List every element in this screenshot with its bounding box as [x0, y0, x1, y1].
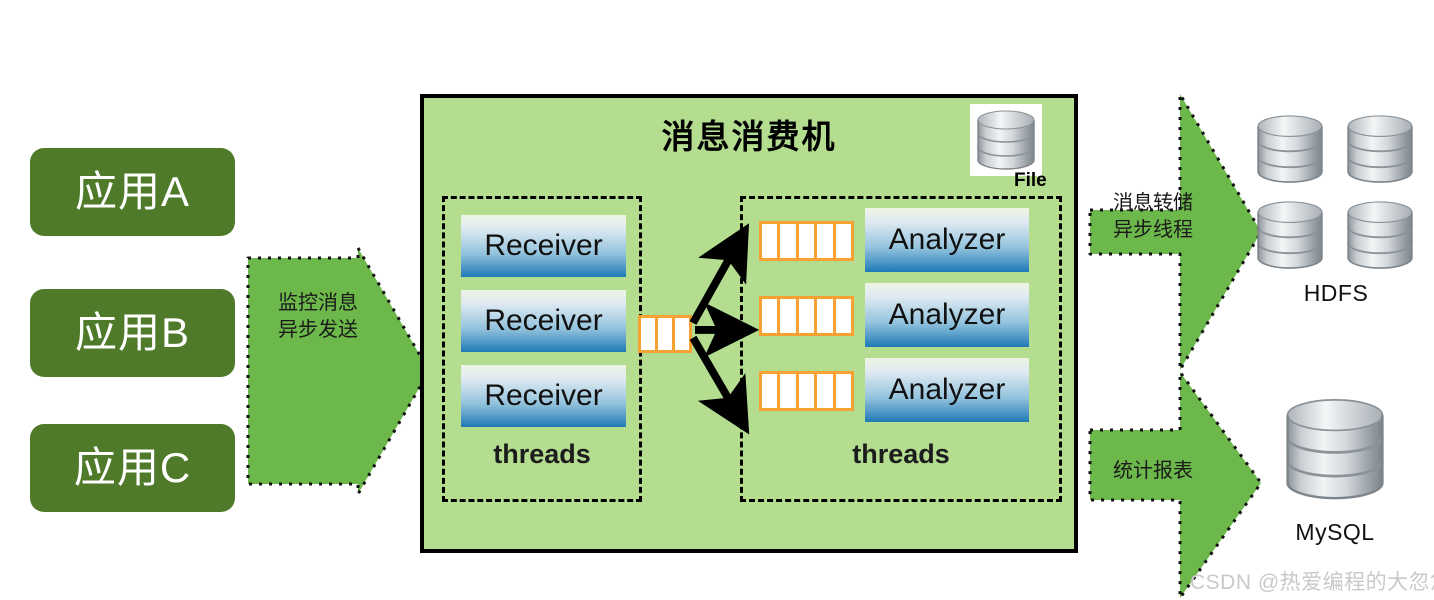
database-cylinder-icon: [1248, 108, 1332, 190]
analyzer-threads-label: threads: [743, 439, 1059, 470]
ingest-flow-arrow: [246, 246, 431, 496]
source-app-c-label: 应用C: [74, 447, 191, 489]
database-cylinder-icon: [1271, 388, 1399, 510]
analyzer-queue-cell: [799, 224, 817, 258]
source-app-a: 应用A: [30, 148, 235, 236]
analyzer-queue-cell: [762, 374, 780, 408]
analyzer-queue-1: [759, 221, 854, 261]
analyzer-queue-cell: [780, 224, 798, 258]
receiver-worker-2-label: Receiver: [484, 304, 602, 338]
hdfs-cylinder-grid: [1248, 108, 1424, 276]
dispatch-queue-cell: [641, 318, 658, 350]
file-icon-caption: File: [1014, 170, 1047, 192]
analyzer-queue-cell: [817, 299, 835, 333]
watermark: CSDN @热爱编程的大忽悠: [1190, 566, 1434, 596]
dispatch-queue-cell: [675, 318, 689, 350]
analyzer-queue-cell: [836, 224, 851, 258]
analyzer-worker-2: Analyzer: [865, 283, 1029, 347]
analyzer-queue-cell: [817, 224, 835, 258]
analyzer-thread-group: Analyzer Analyzer Analyzer: [740, 196, 1062, 502]
hdfs-store: HDFS: [1248, 108, 1424, 307]
receiver-thread-group: Receiver Receiver Receiver threads: [442, 196, 642, 502]
file-database-icon: [970, 104, 1042, 176]
analyzer-worker-2-label: Analyzer: [889, 298, 1006, 332]
receiver-threads-label: threads: [445, 439, 639, 470]
receiver-worker-1: Receiver: [461, 215, 626, 277]
analyzer-worker-3-label: Analyzer: [889, 373, 1006, 407]
analyzer-queue-2: [759, 296, 854, 336]
message-consumer-panel: 消息消费机: [420, 94, 1078, 553]
receiver-worker-1-label: Receiver: [484, 229, 602, 263]
dispatch-queue: [638, 315, 692, 353]
analyzer-queue-cell: [799, 374, 817, 408]
source-app-b: 应用B: [30, 289, 235, 377]
analyzer-queue-cell: [780, 374, 798, 408]
receiver-worker-3: Receiver: [461, 365, 626, 427]
database-cylinder-icon: [1248, 194, 1332, 276]
analyzer-queue-cell: [799, 299, 817, 333]
receiver-worker-3-label: Receiver: [484, 379, 602, 413]
analyzer-queue-cell: [836, 299, 851, 333]
analyzer-queue-cell: [780, 299, 798, 333]
mysql-caption: MySQL: [1262, 519, 1408, 546]
database-cylinder-icon: [1338, 108, 1422, 190]
analyzer-queue-cell: [836, 374, 851, 408]
source-app-b-label: 应用B: [75, 312, 190, 354]
mysql-store: MySQL: [1262, 388, 1408, 546]
analyzer-queue-cell: [817, 374, 835, 408]
analyzer-worker-1: Analyzer: [865, 208, 1029, 272]
analyzer-queue-3: [759, 371, 854, 411]
source-app-a-label: 应用A: [75, 171, 190, 213]
analyzer-queue-cell: [762, 224, 780, 258]
analyzer-worker-3: Analyzer: [865, 358, 1029, 422]
hdfs-caption: HDFS: [1248, 280, 1424, 307]
receiver-worker-2: Receiver: [461, 290, 626, 352]
database-cylinder-icon: [1338, 194, 1422, 276]
source-app-c: 应用C: [30, 424, 235, 512]
analyzer-queue-cell: [762, 299, 780, 333]
archive-flow-arrow: [1088, 92, 1263, 372]
dispatch-queue-cell: [658, 318, 675, 350]
diagram-canvas: 应用A 应用B 应用C 监控消息 异步发送 消息消费机: [0, 0, 1434, 600]
analyzer-worker-1-label: Analyzer: [889, 223, 1006, 257]
